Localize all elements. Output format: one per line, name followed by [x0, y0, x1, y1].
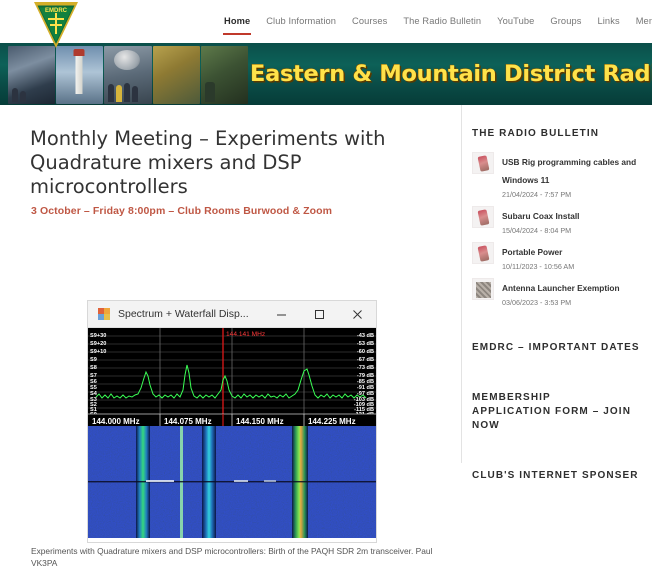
svg-text:-43 dB: -43 dB	[357, 333, 374, 339]
svg-text:S8: S8	[90, 365, 97, 371]
svg-text:144.150 MHz: 144.150 MHz	[236, 417, 284, 426]
nav-item-groups[interactable]: Groups	[542, 0, 589, 43]
sidebar-heading-radio-bulletin: The Radio Bulletin	[472, 127, 652, 141]
site-banner: Eastern & Mountain District Radio Club I…	[0, 43, 652, 105]
nav-item-home[interactable]: Home	[216, 0, 258, 43]
maximize-button[interactable]	[300, 301, 338, 327]
list-item[interactable]: Portable Power 10/11/2023 - 10:56 AM	[472, 242, 652, 271]
post-meta: 3 October – Friday 8:00pm – Club Rooms B…	[31, 205, 461, 217]
main-column: Monthly Meeting – Experiments with Quadr…	[0, 105, 462, 463]
banner-title: Eastern & Mountain District Radio Club I…	[250, 43, 652, 105]
db-axis: -43 dB -53 dB -60 dB -67 dB -73 dB -79 d…	[354, 333, 374, 423]
bulletin-text: Antenna Launcher Exemption 03/06/2023 - …	[502, 278, 620, 307]
nav-item-member-login[interactable]: Member Login	[628, 0, 652, 43]
marker-frequency-label: 144.141 MHz	[226, 331, 265, 338]
nav-item-youtube[interactable]: YouTube	[489, 0, 542, 43]
lighthouse-shape	[75, 54, 82, 94]
banner-photo-lighthouse	[56, 46, 103, 104]
waterfall-plot[interactable]	[88, 426, 376, 538]
banner-photo-radio-operator	[201, 46, 248, 104]
sidebar-heading-membership-application: Membership Application Form – Join Now	[472, 391, 632, 433]
svg-text:-60 dB: -60 dB	[357, 349, 374, 355]
svg-text:-53 dB: -53 dB	[357, 341, 374, 347]
bulletin-date: 10/11/2023 - 10:56 AM	[502, 262, 574, 271]
site-logo[interactable]: EMDRC	[30, 0, 82, 50]
list-item[interactable]: Antenna Launcher Exemption 03/06/2023 - …	[472, 278, 652, 307]
svg-text:144.000 MHz: 144.000 MHz	[92, 417, 140, 426]
emdrc-logo-icon: EMDRC	[30, 0, 82, 50]
bulletin-text: Portable Power 10/11/2023 - 10:56 AM	[502, 242, 574, 271]
app-window-icon	[98, 308, 110, 320]
rig-cable-thumb-icon	[472, 152, 494, 174]
list-item[interactable]: USB Rig programming cables and Windows 1…	[472, 152, 652, 199]
sidebar-heading-important-dates: EMDRC – Important Dates	[472, 341, 652, 355]
bulletin-title[interactable]: Subaru Coax Install	[502, 211, 579, 221]
bulletin-title[interactable]: Portable Power	[502, 247, 562, 257]
svg-text:EMDRC: EMDRC	[45, 8, 68, 14]
banner-photo-people	[205, 78, 245, 102]
bulletin-date: 15/04/2024 - 8:04 PM	[502, 226, 579, 235]
top-navigation-bar: EMDRC Home Club Information Courses The …	[0, 0, 652, 43]
minimize-button[interactable]	[262, 301, 300, 327]
bulletin-title[interactable]: USB Rig programming cables and Windows 1…	[502, 157, 636, 185]
bulletin-date: 03/06/2023 - 3:53 PM	[502, 298, 620, 307]
svg-text:144.225 MHz: 144.225 MHz	[308, 417, 356, 426]
window-title-text: Spectrum + Waterfall Disp...	[118, 308, 249, 320]
page-content: Monthly Meeting – Experiments with Quadr…	[0, 105, 652, 463]
rig-cable-thumb-icon	[472, 242, 494, 264]
page-title: Monthly Meeting – Experiments with Quadr…	[30, 127, 430, 199]
main-menu: Home Club Information Courses The Radio …	[216, 0, 652, 43]
svg-text:S9+10: S9+10	[90, 349, 106, 355]
satellite-dish-shape	[114, 50, 140, 70]
close-button[interactable]	[338, 301, 376, 327]
bulletin-title[interactable]: Antenna Launcher Exemption	[502, 283, 620, 293]
svg-text:-67 dB: -67 dB	[357, 357, 374, 363]
sidebar-heading-internet-sponsor: Club's Internet Sponser	[472, 469, 652, 483]
bulletin-text: Subaru Coax Install 15/04/2024 - 8:04 PM	[502, 206, 579, 235]
window-footer	[88, 538, 376, 542]
window-controls	[262, 301, 376, 327]
banner-photo-operator	[8, 46, 55, 104]
banner-photo-people	[12, 78, 52, 102]
banner-photo-equipment	[153, 46, 200, 104]
antenna-tower-thumb-icon	[472, 278, 494, 300]
bulletin-text: USB Rig programming cables and Windows 1…	[502, 152, 652, 199]
svg-text:S9+30: S9+30	[90, 333, 106, 339]
window-title-bar[interactable]: Spectrum + Waterfall Disp...	[88, 301, 376, 328]
nav-item-the-radio-bulletin[interactable]: The Radio Bulletin	[395, 0, 489, 43]
svg-text:-73 dB: -73 dB	[357, 365, 374, 371]
spectrum-plot[interactable]: 144.141 MHz S9+30 S9+20 S9+10 S9 S8 S7 S…	[88, 328, 376, 426]
banner-photo-people	[108, 78, 148, 102]
waterfall-svg	[88, 426, 376, 538]
nav-item-courses[interactable]: Courses	[344, 0, 395, 43]
list-item[interactable]: Subaru Coax Install 15/04/2024 - 8:04 PM	[472, 206, 652, 235]
banner-photo-dish-group	[104, 46, 151, 104]
nav-item-club-information[interactable]: Club Information	[258, 0, 344, 43]
spectrum-svg: 144.141 MHz S9+30 S9+20 S9+10 S9 S8 S7 S…	[88, 328, 376, 426]
image-caption: Experiments with Quadrature mixers and D…	[31, 545, 451, 569]
spectrum-waterfall-window: Spectrum + Waterfall Disp...	[88, 301, 376, 542]
bulletin-list: USB Rig programming cables and Windows 1…	[472, 152, 652, 307]
svg-text:144.075 MHz: 144.075 MHz	[164, 417, 212, 426]
bulletin-date: 21/04/2024 - 7:57 PM	[502, 190, 652, 199]
sidebar: The Radio Bulletin USB Rig programming c…	[462, 105, 652, 463]
banner-photo-collage	[8, 46, 248, 104]
svg-text:S9: S9	[90, 357, 97, 363]
svg-text:S9+20: S9+20	[90, 341, 106, 347]
nav-item-links[interactable]: Links	[589, 0, 627, 43]
rig-cable-thumb-icon	[472, 206, 494, 228]
